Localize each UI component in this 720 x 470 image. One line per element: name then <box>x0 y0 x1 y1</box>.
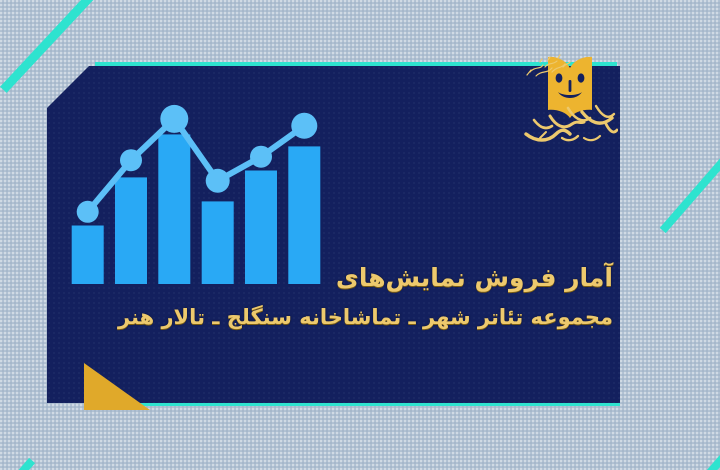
organization-logo <box>522 46 618 156</box>
chart-marker <box>250 146 272 168</box>
decorative-stripe-bottom-right <box>651 444 720 470</box>
chart-marker <box>77 201 99 223</box>
logo-svg <box>522 46 618 156</box>
chart-marker <box>160 105 188 133</box>
chart-markers <box>77 105 318 223</box>
chart-marker <box>291 113 317 139</box>
decorative-stripe-top-right <box>660 126 720 233</box>
poster-canvas: آمار فروش نمایش‌های مجموعه تئاتر شهر ـ ت… <box>0 0 720 470</box>
chart-marker <box>120 149 142 171</box>
chart-marker <box>206 169 230 193</box>
headline-block: آمار فروش نمایش‌های مجموعه تئاتر شهر ـ ت… <box>60 258 613 336</box>
headline-line-2: مجموعه تئاتر شهر ـ تماشاخانه سنگلج ـ تال… <box>60 298 613 336</box>
decorative-stripe-bottom-left <box>0 458 35 470</box>
organization-calligraphy <box>526 106 617 140</box>
headline-line-1: آمار فروش نمایش‌های <box>60 258 613 298</box>
